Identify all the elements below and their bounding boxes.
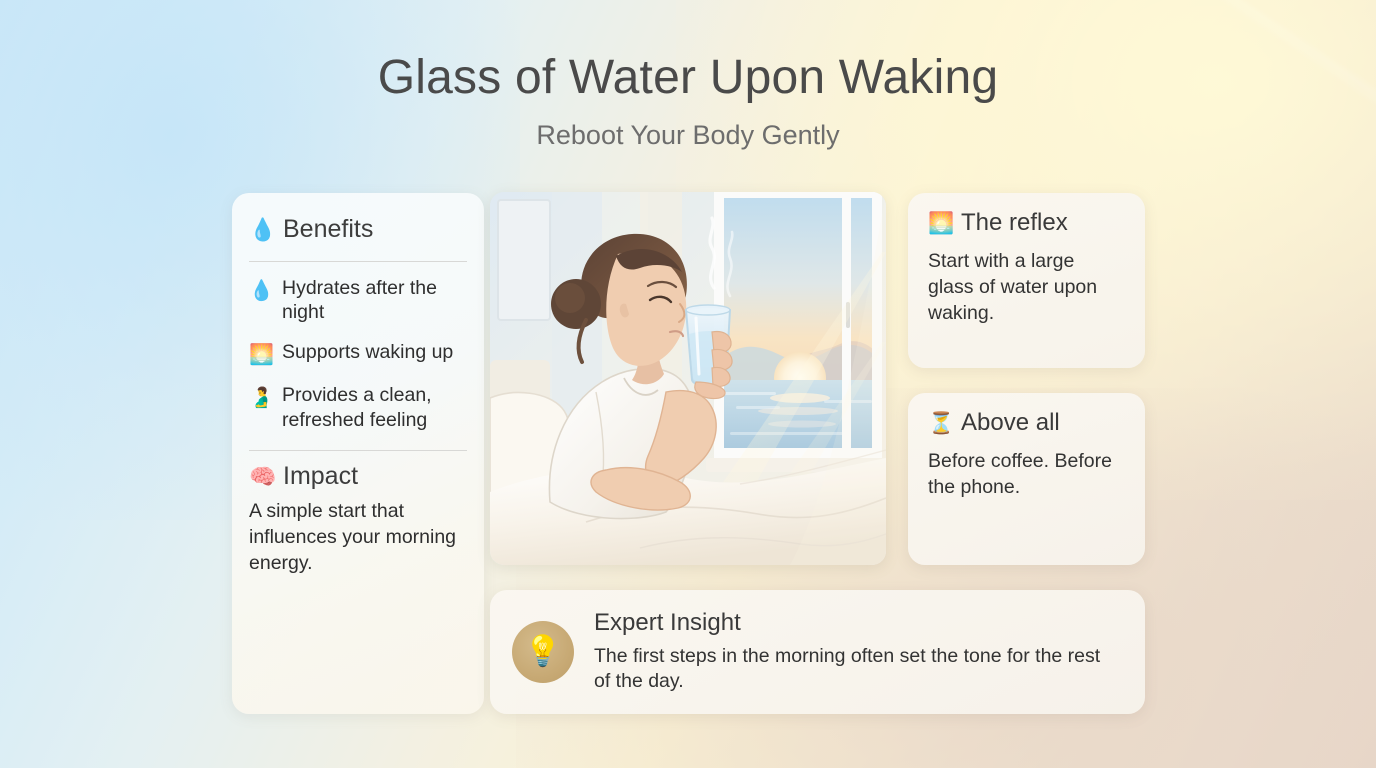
droplet-beige-icon: 💧 <box>249 276 273 304</box>
impact-body-text: A simple start that influences your morn… <box>249 499 467 577</box>
above-all-card-title: Above all <box>961 410 1060 436</box>
impact-section: 🧠 Impact A simple start that influences … <box>249 463 467 576</box>
droplet-icon: 💧 <box>249 219 273 241</box>
above-all-card: ⏳ Above all Before coffee. Before the ph… <box>908 393 1145 565</box>
woman-drinking-water-illustration <box>490 192 886 565</box>
header: Glass of Water Upon Waking Reboot Your B… <box>0 50 1376 152</box>
lightbulb-icon: 💡 <box>512 621 574 683</box>
hourglass-icon: ⏳ <box>928 413 951 434</box>
page-subtitle: Reboot Your Body Gently <box>0 119 1376 151</box>
benefits-list: 💧 Hydrates after the night 🌅 Supports wa… <box>249 276 467 434</box>
light-ray <box>826 0 1376 195</box>
expert-insight-title: Expert Insight <box>594 609 1121 637</box>
sunrise-over-water-icon: 🌅 <box>928 213 951 234</box>
list-item-label: Supports waking up <box>282 340 453 365</box>
sunrise-icon: 🌅 <box>249 340 273 368</box>
benefits-panel: 💧 Benefits 💧 Hydrates after the night 🌅 … <box>232 193 484 714</box>
list-item: 🫃 Provides a clean, refreshed feeling <box>249 383 467 433</box>
impact-heading-label: Impact <box>283 463 358 491</box>
brain-icon: 🧠 <box>249 466 273 488</box>
list-item: 🌅 Supports waking up <box>249 340 467 368</box>
reflex-card-heading: 🌅 The reflex <box>928 210 1125 236</box>
benefits-heading-label: Benefits <box>283 216 373 244</box>
reflex-card-body: Start with a large glass of water upon w… <box>928 249 1125 327</box>
expert-insight-card: 💡 Expert Insight The first steps in the … <box>490 590 1145 714</box>
light-ray <box>731 0 1376 68</box>
impact-divider <box>249 450 467 451</box>
page-title: Glass of Water Upon Waking <box>0 50 1376 105</box>
reflex-card: 🌅 The reflex Start with a large glass of… <box>908 193 1145 368</box>
impact-heading: 🧠 Impact <box>249 463 467 491</box>
list-item-label: Hydrates after the night <box>282 276 467 326</box>
expert-insight-body: The first steps in the morning often set… <box>594 644 1121 695</box>
reflex-card-title: The reflex <box>961 210 1068 236</box>
hero-illustration <box>490 192 886 565</box>
waist-measure-icon: 🫃 <box>249 383 273 411</box>
list-item: 💧 Hydrates after the night <box>249 276 467 326</box>
list-item-label: Provides a clean, refreshed feeling <box>282 383 467 433</box>
above-all-card-body: Before coffee. Before the phone. <box>928 449 1125 501</box>
above-all-card-heading: ⏳ Above all <box>928 410 1125 436</box>
benefits-divider <box>249 261 467 262</box>
expert-insight-text: Expert Insight The first steps in the mo… <box>594 609 1121 695</box>
infographic-canvas: Glass of Water Upon Waking Reboot Your B… <box>0 0 1376 768</box>
benefits-heading: 💧 Benefits <box>249 216 467 244</box>
